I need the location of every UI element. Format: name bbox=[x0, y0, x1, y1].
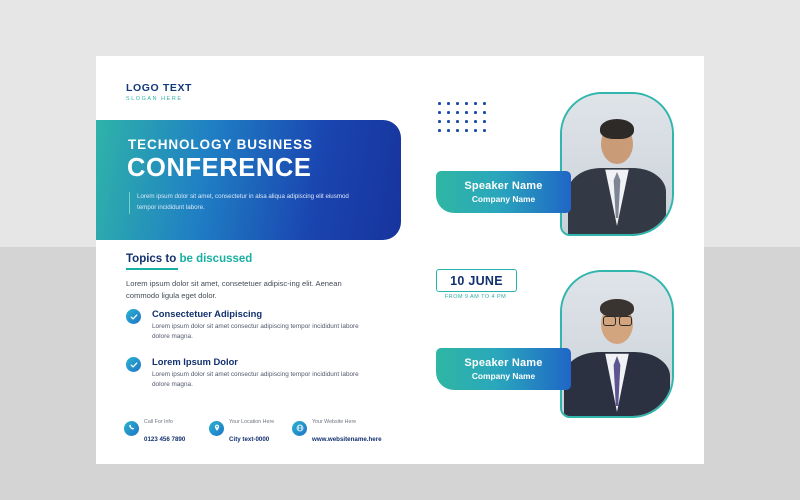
contact-location-value: City text-0000 bbox=[229, 436, 269, 443]
topic-title: Lorem Ipsum Dolor bbox=[152, 356, 238, 367]
speaker-name: Speaker Name bbox=[464, 357, 542, 369]
topic-title: Consectetuer Adipiscing bbox=[152, 308, 262, 319]
dot-grid-decoration bbox=[438, 102, 492, 138]
logo: LOGO TEXT SLOGAN HERE bbox=[126, 82, 192, 102]
logo-slogan: SLOGAN HERE bbox=[126, 96, 192, 102]
hero-title: CONFERENCE bbox=[127, 154, 312, 183]
figure-hair bbox=[600, 299, 634, 317]
contact-location-label: Your Location Here bbox=[229, 419, 274, 425]
contact-website-text: Your Website Here www.websitename.here bbox=[312, 410, 382, 446]
contact-phone-label: Call For Info bbox=[144, 419, 173, 425]
figure-glasses-left bbox=[603, 316, 616, 326]
event-date-box: 10 JUNE bbox=[436, 269, 517, 292]
contact-website-label: Your Website Here bbox=[312, 419, 356, 425]
check-circle-icon bbox=[126, 357, 141, 372]
speaker-name-card-2: Speaker Name Company Name bbox=[436, 348, 571, 390]
speaker-photo-2 bbox=[560, 270, 674, 418]
figure-glasses-right bbox=[619, 316, 632, 326]
location-pin-icon bbox=[209, 421, 224, 436]
topic-body: Lorem ipsum dolor sit amet consectur adi… bbox=[152, 322, 372, 343]
event-date: 10 JUNE bbox=[437, 274, 516, 288]
topics-underline bbox=[126, 268, 178, 270]
contact-location-text: Your Location Here City text-0000 bbox=[229, 410, 274, 446]
screenshot-canvas: LOGO TEXT SLOGAN HERE TECHNOLOGY BUSINES… bbox=[0, 0, 800, 500]
speaker-company: Company Name bbox=[472, 371, 535, 381]
speaker-name-card-1: Speaker Name Company Name bbox=[436, 171, 571, 213]
hero-banner: TECHNOLOGY BUSINESS CONFERENCE Lorem ips… bbox=[96, 120, 401, 240]
event-time: FROM 9 AM TO 4 PM bbox=[436, 294, 515, 300]
contact-website[interactable]: Your Website Here www.websitename.here bbox=[292, 410, 382, 446]
topics-heading-part2: be discussed bbox=[179, 253, 252, 265]
hero-kicker: TECHNOLOGY BUSINESS bbox=[128, 137, 313, 152]
logo-text: LOGO TEXT bbox=[126, 82, 192, 94]
flyer-card: LOGO TEXT SLOGAN HERE TECHNOLOGY BUSINES… bbox=[96, 56, 704, 464]
contact-website-value: www.websitename.here bbox=[312, 436, 382, 443]
contact-phone-text: Call For Info 0123 456 7890 bbox=[144, 410, 185, 446]
contact-phone-value: 0123 456 7890 bbox=[144, 436, 185, 443]
hero-subtext: Lorem ipsum dolor sit amet, consectetur … bbox=[129, 192, 352, 214]
topic-body: Lorem ipsum dolor sit amet consectur adi… bbox=[152, 370, 372, 391]
speaker-photo-1 bbox=[560, 92, 674, 236]
phone-icon bbox=[124, 421, 139, 436]
check-circle-icon bbox=[126, 309, 141, 324]
contact-location[interactable]: Your Location Here City text-0000 bbox=[209, 410, 274, 446]
globe-icon bbox=[292, 421, 307, 436]
figure-hair bbox=[600, 119, 634, 139]
topics-intro: Lorem ipsum dolor sit amet, consetetuer … bbox=[126, 278, 351, 303]
topics-heading: Topics to be discussed bbox=[126, 253, 252, 265]
speaker-company: Company Name bbox=[472, 194, 535, 204]
speaker-name: Speaker Name bbox=[464, 180, 542, 192]
topics-heading-part1: Topics to bbox=[126, 253, 179, 265]
contact-phone[interactable]: Call For Info 0123 456 7890 bbox=[124, 410, 185, 446]
